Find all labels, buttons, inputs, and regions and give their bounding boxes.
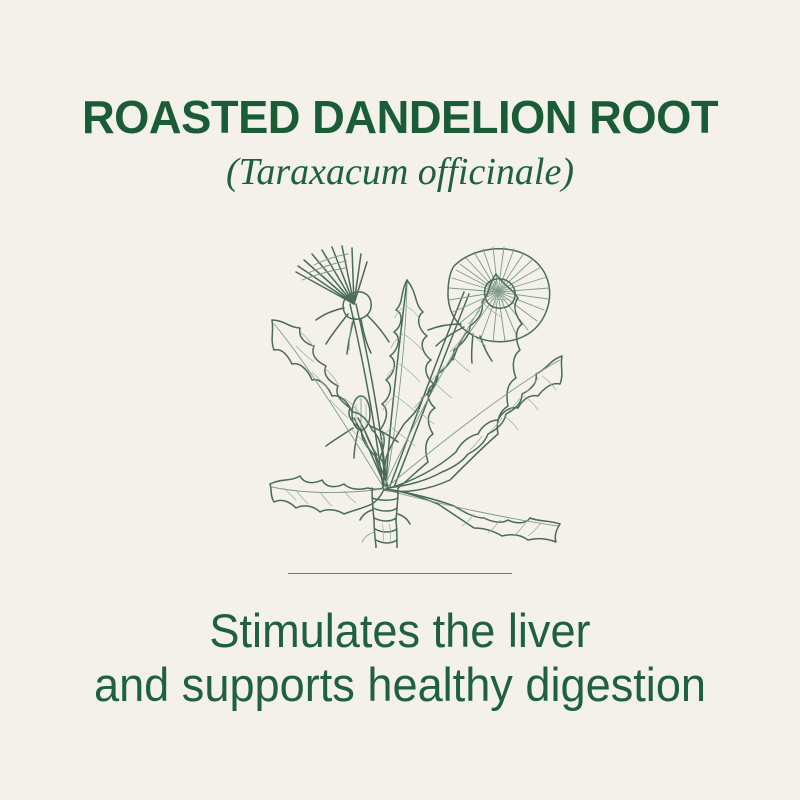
dandelion-icon xyxy=(268,232,564,548)
page-title: ROASTED DANDELION ROOT xyxy=(6,92,794,142)
divider xyxy=(288,573,512,574)
leaf-right-middle xyxy=(386,356,562,489)
leaf-left-lower xyxy=(270,476,384,514)
botanical-name: (Taraxacum officinale) xyxy=(0,150,800,194)
tagline-line-1: Stimulates the liver xyxy=(16,604,784,658)
leaf-right-lower xyxy=(386,489,560,542)
benefit-card: ROASTED DANDELION ROOT (Taraxacum offici… xyxy=(0,0,800,800)
taproot xyxy=(360,488,410,548)
tagline-line-2: and supports healthy digestion xyxy=(16,658,784,712)
header: ROASTED DANDELION ROOT (Taraxacum offici… xyxy=(0,92,800,194)
tagline: Stimulates the liver and supports health… xyxy=(0,604,800,712)
partial-flower-head xyxy=(296,246,389,354)
dandelion-illustration xyxy=(268,232,564,548)
open-flower-head xyxy=(428,247,550,363)
